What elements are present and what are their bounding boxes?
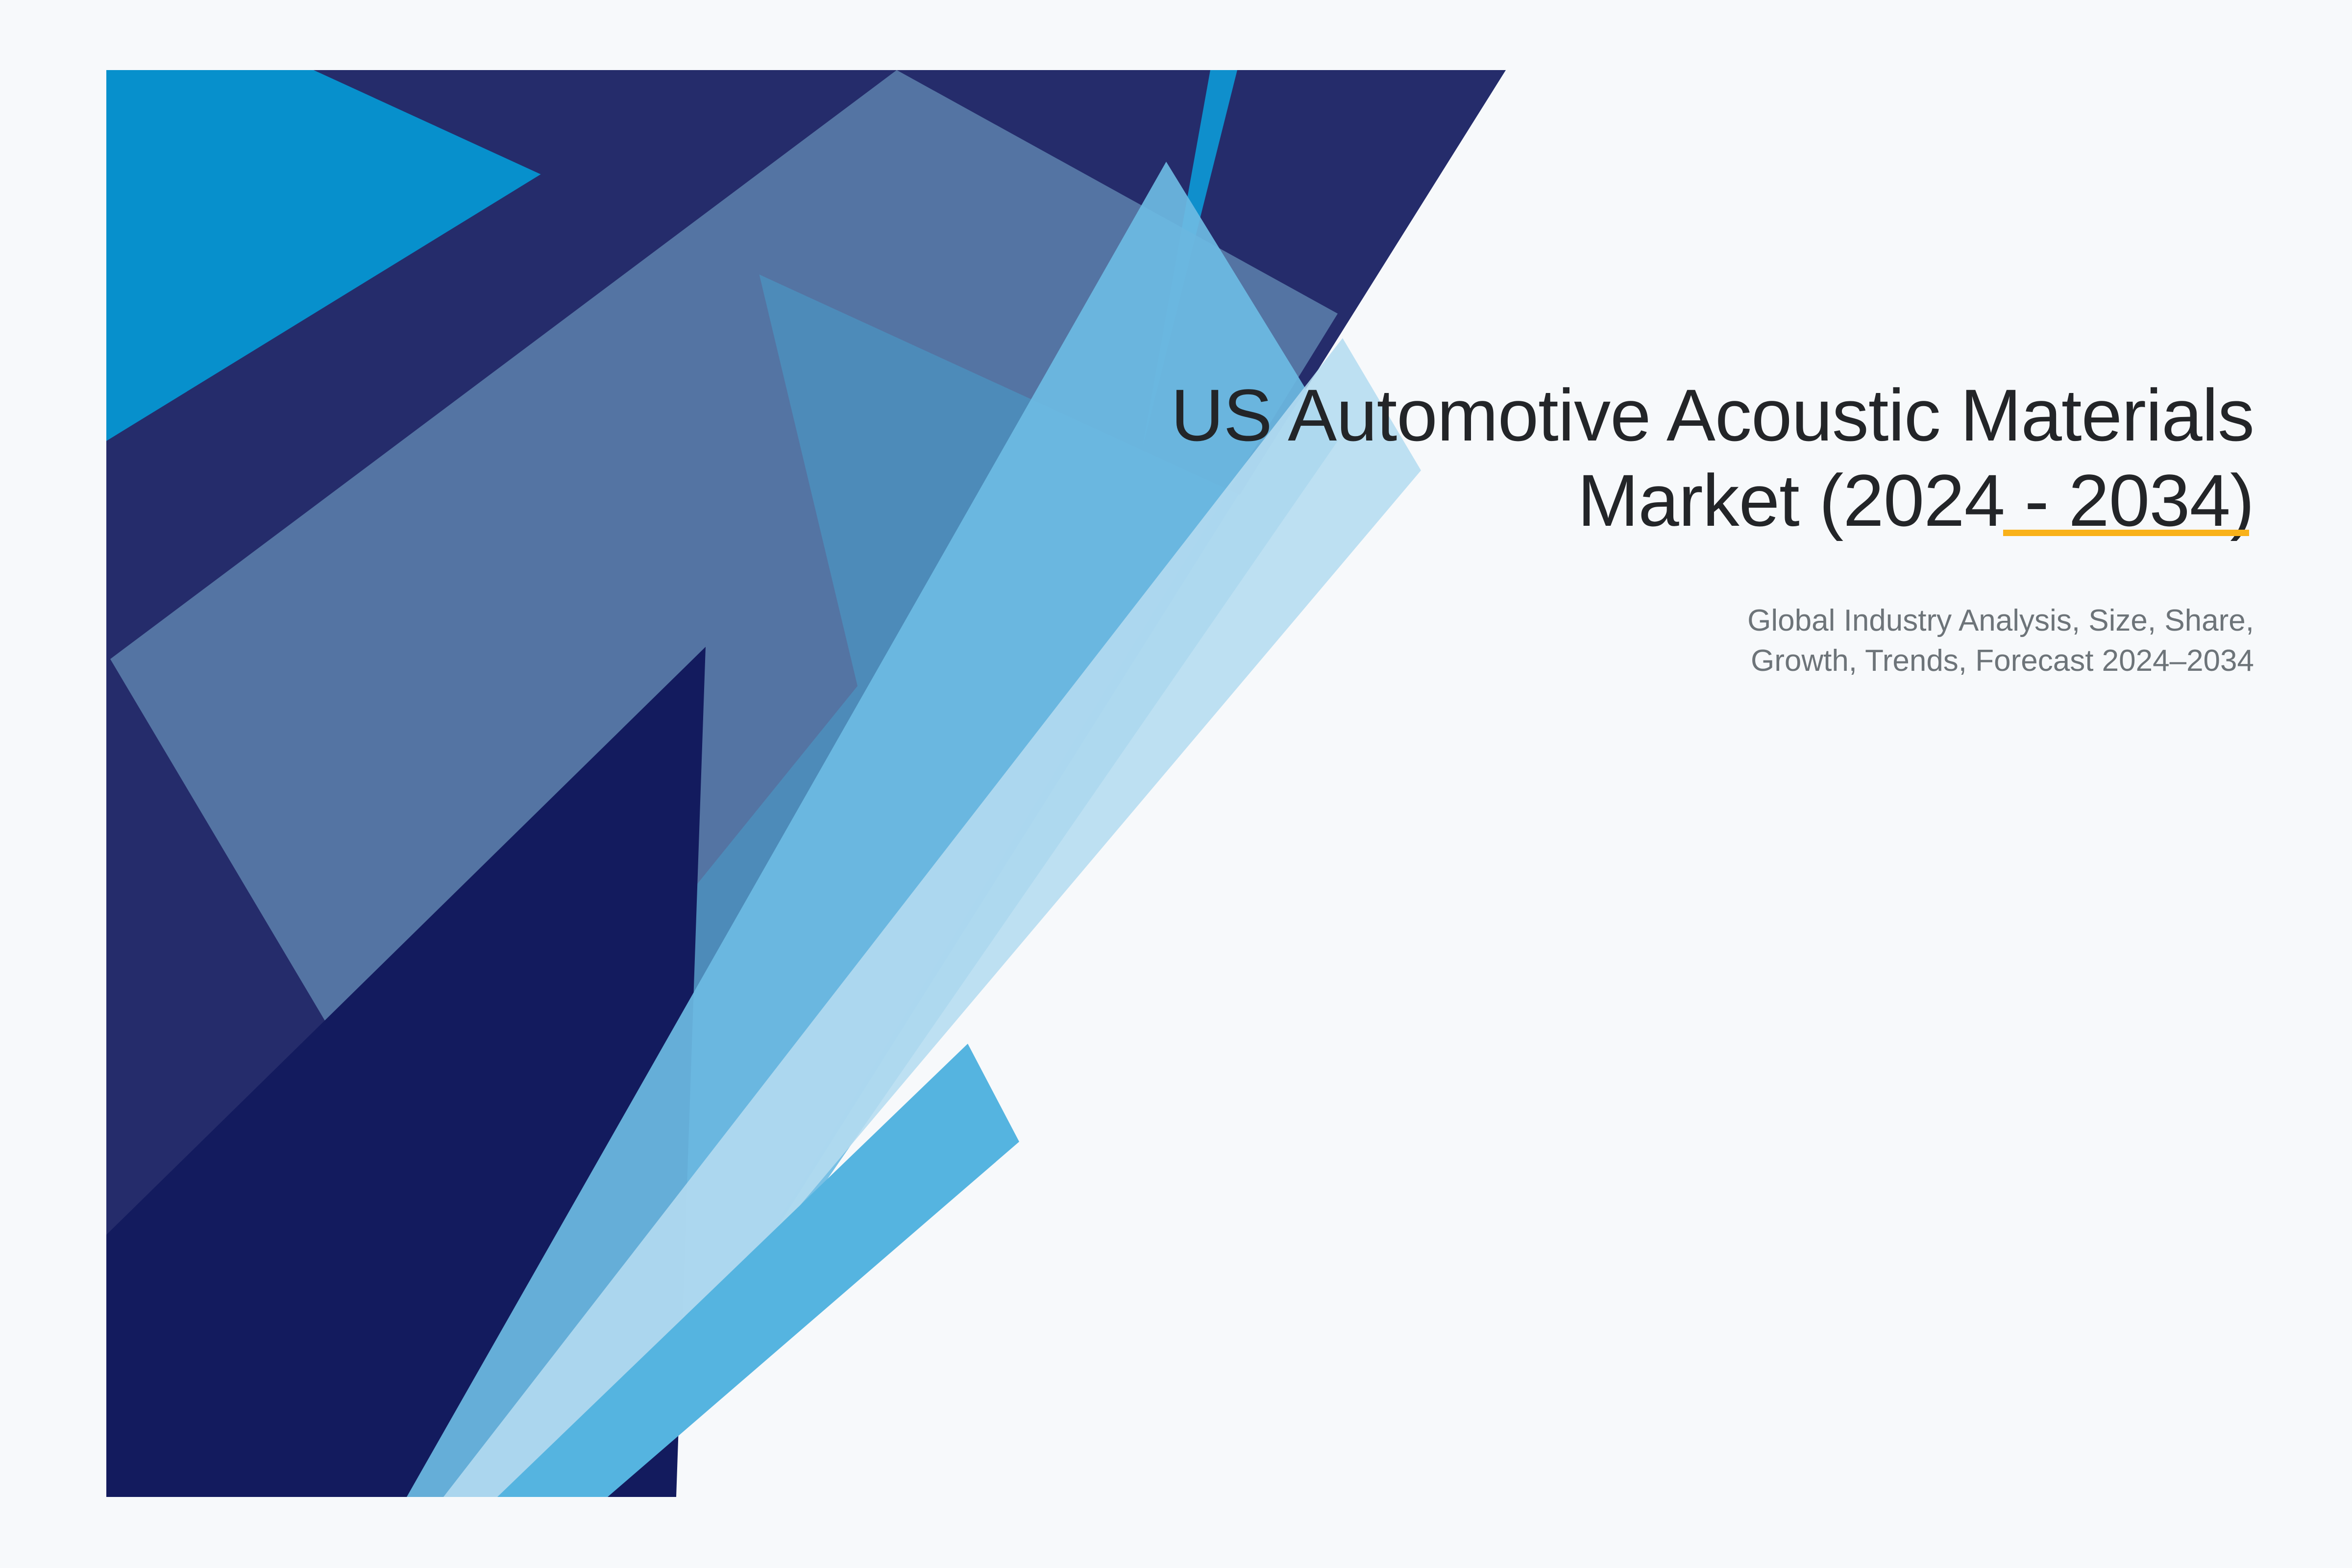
cover-text-block: US Automotive Acoustic Materials Market …: [931, 372, 2254, 682]
page-subtitle-line-1: Global Industry Analysis, Size, Share,: [1747, 604, 2254, 637]
abstract-polygon-decoration: [0, 0, 2352, 1568]
page-title-line-2: Market (2024 - 2034): [1577, 459, 2254, 541]
page-title: US Automotive Acoustic Materials Market …: [931, 372, 2254, 543]
page-subtitle-line-2: Growth, Trends, Forecast 2024–2034: [1751, 644, 2254, 678]
page-title-line-1: US Automotive Acoustic Materials: [1171, 374, 2254, 456]
title-accent-underline: [2003, 530, 2249, 536]
page-subtitle: Global Industry Analysis, Size, Share, G…: [931, 543, 2254, 682]
cover-slide: US Automotive Acoustic Materials Market …: [0, 0, 2352, 1568]
